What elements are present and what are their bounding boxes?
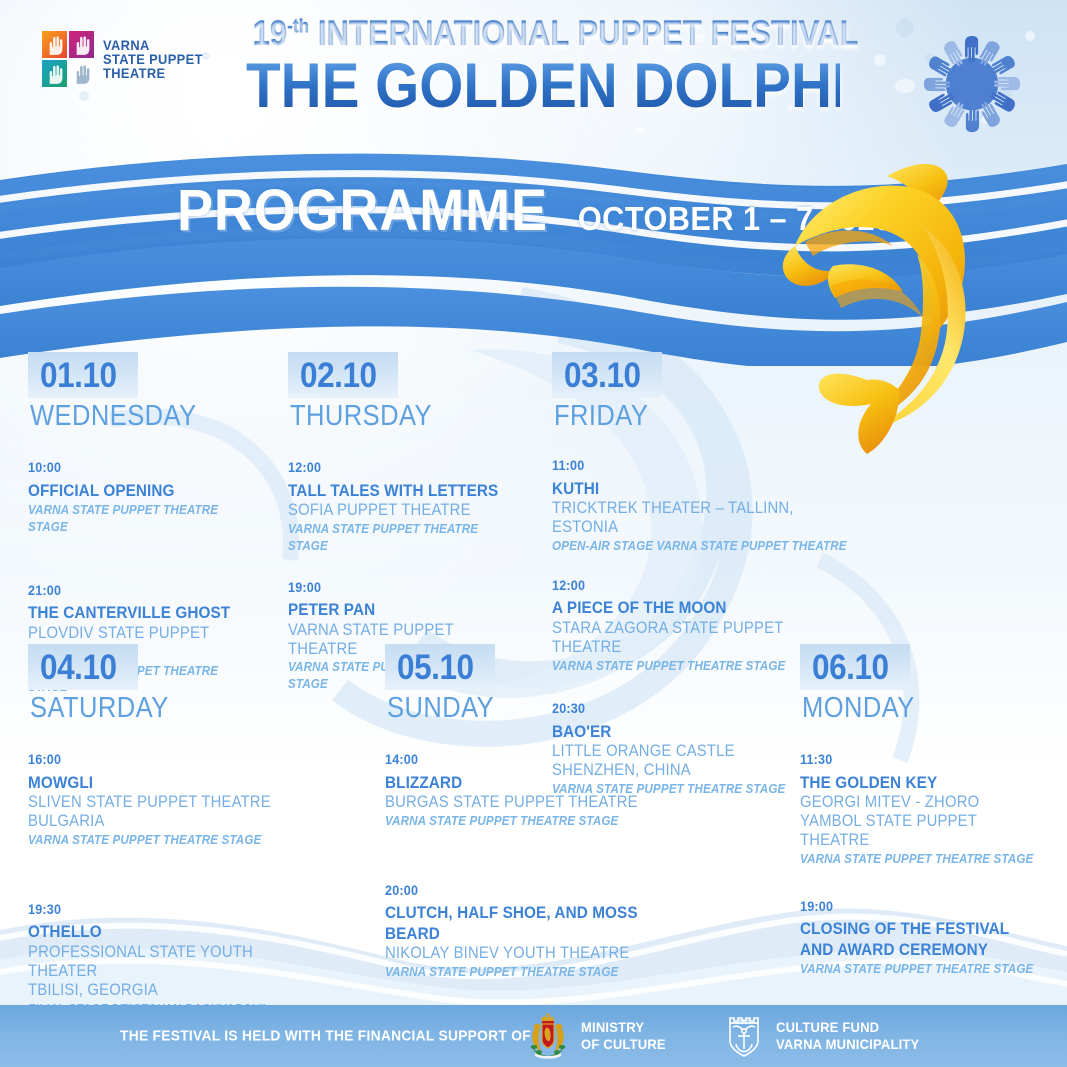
event-time: 11:00: [552, 457, 849, 475]
date-badge: 06.10: [800, 644, 910, 690]
sponsor-ministry-of-culture: MINISTRY OF CULTURE: [525, 1013, 672, 1059]
logo-line-3: THEATRE: [103, 66, 203, 80]
event-item: 19:30 OTHELLO PROFESSIONAL STATE YOUTH T…: [28, 901, 338, 1018]
sponsor-label: CULTURE FUND VARNA MUNICIPALITY: [776, 1019, 919, 1053]
golden-dolphin-icon: [775, 158, 1015, 458]
festival-subtitle: INTERNATIONAL PUPPET FESTIVAL: [318, 14, 859, 53]
weekday-label: WEDNESDAY: [30, 402, 248, 431]
varna-municipality-crest-icon: ВАРНА: [722, 1013, 766, 1059]
edition-number: 19: [253, 14, 288, 53]
event-time: 12:00: [552, 577, 849, 595]
festival-main-title: THE GOLDEN DOLPHIN: [246, 56, 840, 118]
event-time: 14:00: [385, 751, 655, 769]
festival-edition-line: 19-th INTERNATIONAL PUPPET FESTIVAL: [253, 14, 834, 54]
event-title: MOWGLI: [28, 773, 307, 793]
date-number: 06.10: [812, 650, 889, 685]
day-column-06-10: 06.10 MONDAY 11:30 THE GOLDEN KEY GEORGI…: [800, 644, 1065, 1000]
event-item: 12:00 TALL TALES WITH LETTERS SOFIA PUPP…: [288, 459, 538, 555]
event-title: OFFICIAL OPENING: [28, 481, 253, 501]
event-time: 19:00: [288, 579, 513, 597]
event-title: BLIZZARD: [385, 773, 655, 793]
event-time: 19:00: [800, 898, 1039, 916]
event-venue: VARNA STATE PUPPET THEATRE STAGE: [800, 961, 1039, 978]
festival-title-block: 19-th INTERNATIONAL PUPPET FESTIVAL THE …: [213, 14, 873, 118]
event-item: 10:00 OFFICIAL OPENING VARNA STATE PUPPE…: [28, 459, 278, 536]
event-venue: VARNA STATE PUPPET THEATRE STAGE: [385, 964, 655, 981]
weekday-label: MONDAY: [802, 694, 1033, 723]
date-number: 05.10: [397, 650, 474, 685]
event-venue: OPEN-AIR STAGE VARNA STATE PUPPET THEATR…: [552, 538, 849, 555]
logo-squares: [42, 31, 94, 87]
event-troupe: BURGAS STATE PUPPET THEATRE: [385, 793, 655, 812]
event-title: KUTHI: [552, 479, 849, 499]
event-title: PETER PAN: [288, 600, 513, 620]
event-title: A PIECE OF THE MOON: [552, 598, 849, 618]
event-troupe: SLIVEN STATE PUPPET THEATRE BULGARIA: [28, 793, 307, 831]
edition-suffix: -th: [287, 16, 309, 37]
event-venue: VARNA STATE PUPPET THEATRE STAGE: [28, 502, 253, 536]
date-number: 03.10: [564, 358, 641, 393]
event-troupe: SOFIA PUPPET THEATRE: [288, 501, 513, 520]
event-item: 11:30 THE GOLDEN KEY GEORGI MITEV - ZHOR…: [800, 751, 1065, 868]
day-column-05-10: 05.10 SUNDAY 14:00 BLIZZARD BURGAS STATE…: [385, 644, 685, 1003]
logo-hand-icon-white: [69, 60, 95, 87]
event-time: 19:30: [28, 901, 307, 919]
poster-header: VARNA STATE PUPPET THEATRE 19-th INTERNA…: [0, 0, 1067, 150]
event-title: OTHELLO: [28, 922, 307, 942]
day-column-04-10: 04.10 SATURDAY 16:00 MOWGLI SLIVEN STATE…: [28, 644, 338, 1039]
day-header: 06.10 MONDAY: [800, 644, 1065, 723]
weekday-label: SUNDAY: [387, 694, 649, 723]
date-badge: 02.10: [288, 352, 398, 398]
event-title: THE GOLDEN KEY: [800, 773, 1039, 793]
sponsor-line-2: OF CULTURE: [581, 1036, 666, 1053]
event-title: CLOSING OF THE FESTIVALAND AWARD CEREMON…: [800, 919, 1039, 960]
logo-wordmark: VARNA STATE PUPPET THEATRE: [103, 38, 212, 81]
sponsor-line-2: VARNA MUNICIPALITY: [776, 1036, 919, 1053]
event-troupe: TRICKTREK THEATER – TALLINN, ESTONIA: [552, 499, 849, 537]
hands-circle-emblem-icon: [893, 14, 1051, 154]
event-time: 11:30: [800, 751, 1039, 769]
logo-hand-icon-magenta: [69, 31, 95, 58]
event-time: 16:00: [28, 751, 307, 769]
day-header: 02.10 THURSDAY: [288, 352, 538, 431]
date-number: 01.10: [40, 358, 117, 393]
event-troupe: NIKOLAY BINEV YOUTH THEATRE: [385, 944, 655, 963]
date-number: 02.10: [300, 358, 377, 393]
day-header: 04.10 SATURDAY: [28, 644, 338, 723]
event-time: 21:00: [28, 582, 253, 600]
festival-programme-poster: VARNA STATE PUPPET THEATRE 19-th INTERNA…: [0, 0, 1067, 1067]
event-title: TALL TALES WITH LETTERS: [288, 481, 513, 501]
logo-hand-icon-orange: [42, 31, 67, 58]
date-badge: 01.10: [28, 352, 138, 398]
logo-line-1: VARNA: [103, 38, 203, 52]
sponsor-line-1: MINISTRY: [581, 1019, 666, 1036]
weekday-label: SATURDAY: [30, 694, 301, 723]
logo-hand-icon-teal: [42, 60, 67, 87]
poster-footer: THE FESTIVAL IS HELD WITH THE FINANCIAL …: [0, 1005, 1067, 1067]
day-header: 05.10 SUNDAY: [385, 644, 685, 723]
varna-state-puppet-theatre-logo: VARNA STATE PUPPET THEATRE: [42, 28, 212, 90]
event-item: 20:00 CLUTCH, HALF SHOE, AND MOSS BEARD …: [385, 882, 685, 981]
event-troupe: PROFESSIONAL STATE YOUTH THEATERTBILISI,…: [28, 943, 307, 1000]
svg-text:ВАРНА: ВАРНА: [738, 1019, 751, 1023]
event-venue: VARNA STATE PUPPET THEATRE STAGE: [800, 851, 1039, 868]
event-troupe: GEORGI MITEV - ZHOROYAMBOL STATE PUPPET …: [800, 793, 1039, 850]
sponsor-line-1: CULTURE FUND: [776, 1019, 919, 1036]
event-title: CLUTCH, HALF SHOE, AND MOSS BEARD: [385, 903, 655, 944]
date-badge: 04.10: [28, 644, 138, 690]
financial-support-text: THE FESTIVAL IS HELD WITH THE FINANCIAL …: [120, 1028, 531, 1045]
event-venue: VARNA STATE PUPPET THEATRE STAGE: [28, 832, 307, 849]
sponsor-culture-fund-varna: ВАРНА CULTURE FUND VARNA MUNICIPALITY: [722, 1013, 930, 1059]
event-item: 14:00 BLIZZARD BURGAS STATE PUPPET THEAT…: [385, 751, 685, 830]
weekday-label: THURSDAY: [290, 402, 508, 431]
event-item: 11:00 KUTHI TRICKTREK THEATER – TALLINN,…: [552, 457, 882, 555]
date-badge: 05.10: [385, 644, 495, 690]
logo-line-2: STATE PUPPET: [103, 52, 203, 66]
event-venue: VARNA STATE PUPPET THEATRE STAGE: [385, 813, 655, 830]
event-time: 12:00: [288, 459, 513, 477]
sponsor-label: MINISTRY OF CULTURE: [581, 1019, 666, 1053]
event-item: 16:00 MOWGLI SLIVEN STATE PUPPET THEATRE…: [28, 751, 338, 849]
date-badge: 03.10: [552, 352, 662, 398]
event-item: 19:00 CLOSING OF THE FESTIVALAND AWARD C…: [800, 898, 1065, 978]
event-time: 10:00: [28, 459, 253, 477]
date-number: 04.10: [40, 650, 117, 685]
day-header: 01.10 WEDNESDAY: [28, 352, 278, 431]
event-time: 20:00: [385, 882, 655, 900]
bulgaria-coat-of-arms-icon: [525, 1013, 571, 1059]
event-venue: VARNA STATE PUPPET THEATRE STAGE: [288, 521, 513, 555]
event-title: THE CANTERVILLE GHOST: [28, 603, 253, 623]
